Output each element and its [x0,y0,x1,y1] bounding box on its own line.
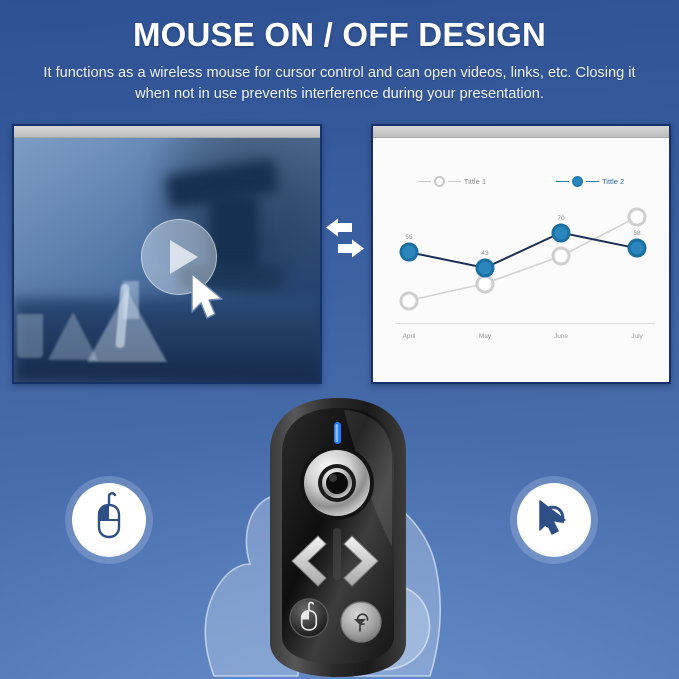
page-title: MOUSE ON / OFF DESIGN [0,0,679,54]
x-axis-label: April [402,333,415,340]
x-axis-line [395,323,655,324]
video-screen [14,138,320,382]
data-point-marker [628,207,647,226]
beaker [17,314,43,358]
video-panel-titlebar [14,126,320,138]
data-point-marker [552,247,571,266]
line-chart: Tittle 1 Tittle 2 AprilMayJuneJuly554370… [373,138,669,382]
data-point-label: 58 [633,230,640,237]
cursor-rotate-icon [517,483,591,557]
erlenmeyer-flask-small [48,312,98,360]
chart-panel-titlebar [373,126,669,138]
mouse-mode-badge[interactable] [72,483,146,557]
data-point-marker [400,243,419,262]
data-point-marker [400,291,419,310]
data-point-label: 43 [481,250,488,257]
data-point-marker [628,239,647,258]
cursor-mode-badge[interactable] [517,483,591,557]
computer-mouse-icon [72,483,146,557]
product-feature-slide: MOUSE ON / OFF DESIGN It functions as a … [0,0,679,679]
x-axis-label: June [554,333,568,340]
video-panel [12,124,322,384]
chart-plot-area [373,138,665,382]
data-point-label: 70 [557,215,564,222]
page-subtitle: It functions as a wireless mouse for cur… [28,63,652,105]
wireless-presenter-remote [248,396,428,679]
data-point-marker [476,258,495,277]
arrow-cursor-icon [188,272,232,324]
data-point-label: 55 [405,234,412,241]
series-line [409,233,637,268]
x-axis-label: July [631,333,643,340]
swap-horizontal-icon [322,218,368,262]
data-point-marker [552,223,571,242]
header: MOUSE ON / OFF DESIGN It functions as a … [0,0,679,105]
chart-panel: Tittle 1 Tittle 2 AprilMayJuneJuly554370… [371,124,671,384]
x-axis-label: May [479,333,491,340]
